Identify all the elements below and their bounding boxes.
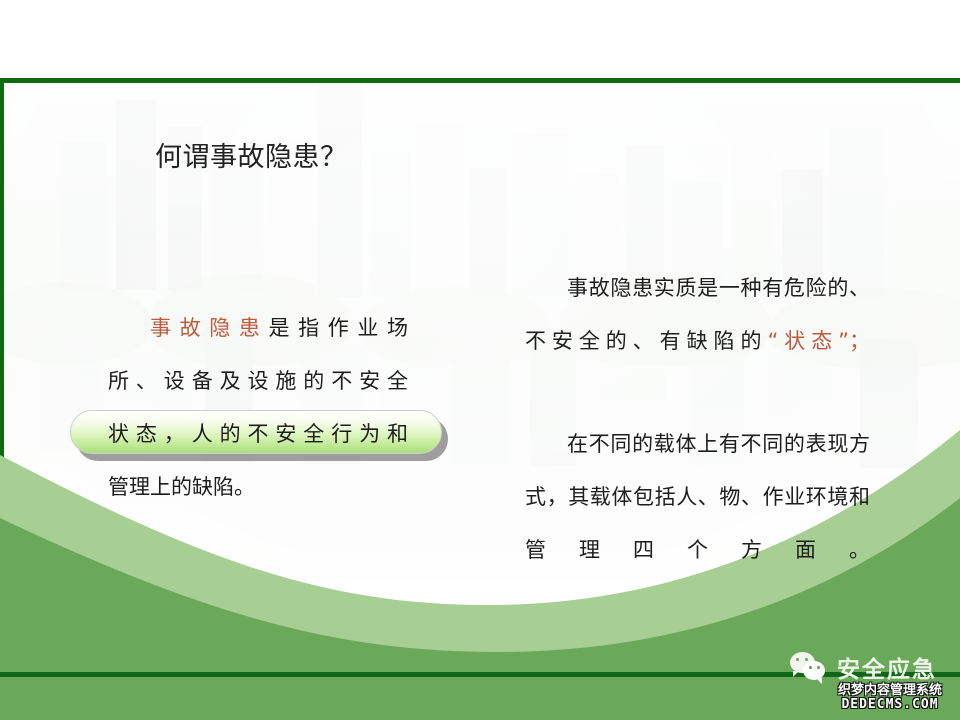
watermark-cn: 织梦内容管理系统 (838, 684, 942, 698)
header-divider-rule (0, 78, 960, 83)
definition-line-3-highlighted: 状态，人的不安全行为和 (108, 408, 408, 461)
footer-brand-label: 安全应急 (837, 650, 937, 684)
watermark: 织梦内容管理系统 DEDECMS.COM (838, 684, 942, 711)
explanation-para-1-line-1: 事故隐患实质是一种有危险 (567, 276, 827, 300)
accent-term-hazard: 事故隐患 (150, 316, 269, 340)
definition-text-block: 事故隐患是指作业场 所、设备及设施的不安全 状态，人的不安全行为和 管理上的缺陷… (108, 302, 408, 514)
footer-brand: 安全应急 (790, 650, 937, 684)
explanation-text-block: 事故隐患实质是一种有危险的、不安全的、有缺陷的“状态”； 在不同的载体上有不同的… (525, 262, 870, 577)
explanation-para-2: 在不同的载体上有不同的表现方式，其载体包括人、物、作业环境和管理四个方面。 (525, 418, 870, 577)
wechat-bubble-small (803, 661, 825, 680)
slide-canvas: 何谓事故隐患？ 事故隐患是指作业场 所、设备及设施的不安全 状态，人的不安全行为… (0, 0, 960, 720)
explanation-para-1-terminator: ； (849, 329, 870, 353)
explanation-para-1: 事故隐患实质是一种有危险的、不安全的、有缺陷的“状态”； (525, 262, 870, 368)
explanation-para-2-line-1: 在不同的载体上有不同的表 (567, 432, 827, 456)
wechat-icon (790, 652, 828, 682)
wechat-eye (805, 658, 808, 661)
page-title: 何谓事故隐患？ (155, 142, 348, 174)
definition-line-1: 事故隐患是指作业场 (108, 302, 408, 355)
accent-term-state: “状态” (767, 329, 849, 353)
definition-line-2: 所、设备及设施的不安全 (108, 355, 408, 408)
wechat-eye (796, 658, 799, 661)
watermark-en: DEDECMS.COM (838, 698, 942, 712)
wechat-eye (817, 666, 820, 669)
wechat-eye (809, 666, 812, 669)
definition-line-4: 管理上的缺陷。 (108, 461, 408, 514)
definition-line-1-rest: 是指作业场 (269, 316, 409, 340)
